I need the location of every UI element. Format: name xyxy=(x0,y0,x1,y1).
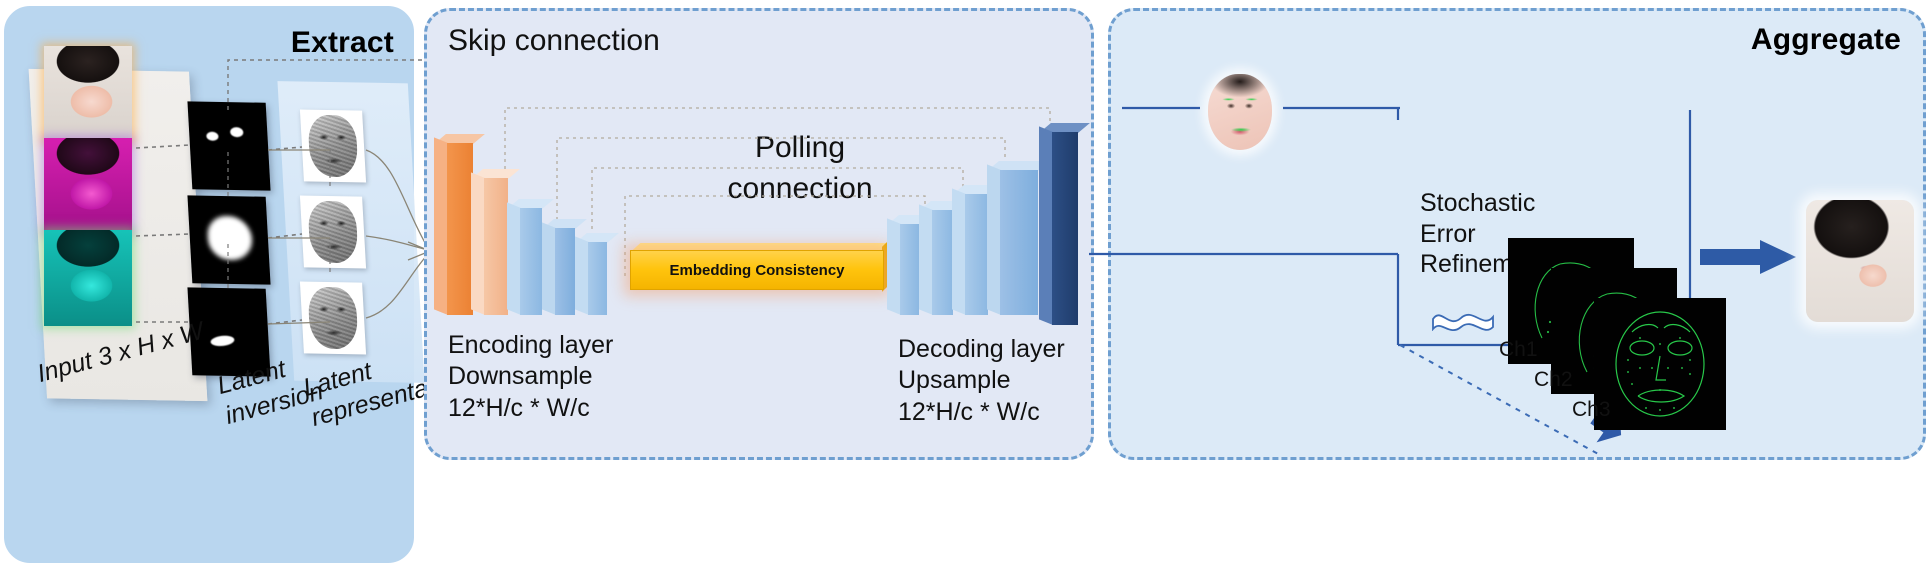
face-mesh-icon xyxy=(1594,298,1726,430)
block-side-face xyxy=(952,188,966,315)
encoder-block-5 xyxy=(588,242,607,315)
diagram-canvas: Extract xyxy=(0,0,1930,569)
block-front-face xyxy=(555,228,575,315)
decoder-block-5 xyxy=(1052,132,1078,325)
block-side-face xyxy=(887,218,901,315)
latent-face-2 xyxy=(300,196,366,269)
latent-face-texture xyxy=(307,201,359,264)
caption-decoder: Decoding layer Upsample 12*H/c * W/c xyxy=(898,334,1065,428)
decoder-block-1 xyxy=(900,224,919,315)
caption-decoder-line1: Decoding layer xyxy=(898,334,1065,365)
block-side-face xyxy=(919,204,933,315)
decoder-block-2 xyxy=(932,210,953,315)
decoder-block-4 xyxy=(1000,170,1038,315)
embedding-consistency-box[interactable]: Embedding Consistency xyxy=(630,250,884,290)
block-side-face xyxy=(1039,126,1053,325)
latent-face-3 xyxy=(300,282,366,355)
label-polling-line1: Polling xyxy=(690,128,910,169)
label-ser-line1: Stochastic xyxy=(1420,188,1548,219)
input-card-teal xyxy=(44,230,132,326)
mask-card-eyes xyxy=(187,101,270,190)
mouth-blob xyxy=(210,334,236,347)
block-front-face xyxy=(965,194,988,315)
caption-decoder-line2: Upsample xyxy=(898,365,1065,396)
label-polling-line2: connection xyxy=(690,169,910,210)
face-thumbnail xyxy=(44,230,132,326)
caption-encoder-line2: Downsample xyxy=(448,361,613,392)
block-front-face xyxy=(447,143,473,315)
face-blob xyxy=(207,216,254,261)
block-front-face xyxy=(484,178,508,315)
decoder-block-3 xyxy=(965,194,988,315)
output-restored-face xyxy=(1806,200,1914,322)
output-arrow-icon xyxy=(1700,240,1796,274)
encoder-block-3 xyxy=(520,208,542,315)
encoder-block-2 xyxy=(484,178,508,315)
channel-label-2: Ch2 xyxy=(1534,368,1573,392)
face-thumbnail xyxy=(44,46,132,142)
block-side-face xyxy=(471,172,485,315)
block-side-face xyxy=(542,222,556,315)
panel-aggregate-title: Aggregate xyxy=(1751,23,1901,57)
input-card-original xyxy=(44,46,132,142)
face-thumbnail xyxy=(44,138,132,234)
block-front-face xyxy=(1000,170,1038,315)
block-side-face xyxy=(507,202,521,315)
block-side-face xyxy=(434,137,448,315)
label-skip-connection: Skip connection xyxy=(448,24,660,58)
label-polling-connection: Polling connection xyxy=(690,128,910,209)
wave-icon xyxy=(1431,305,1495,331)
input-card-magenta xyxy=(44,138,132,234)
latent-face-1 xyxy=(300,110,366,183)
block-side-face xyxy=(575,236,589,315)
eye-blob-right xyxy=(230,127,244,137)
block-front-face xyxy=(520,208,542,315)
block-front-face xyxy=(588,242,607,315)
encoder-block-1 xyxy=(447,143,473,315)
block-front-face xyxy=(932,210,953,315)
caption-encoder: Encoding layer Downsample 12*H/c * W/c xyxy=(448,330,613,424)
block-side-face xyxy=(987,164,1001,315)
eye-blob-left xyxy=(206,132,219,141)
aggregate-preview-face xyxy=(1208,74,1272,150)
caption-encoder-line3: 12*H/c * W/c xyxy=(448,393,613,424)
panel-extract-title: Extract xyxy=(291,26,394,60)
latent-face-texture xyxy=(307,287,359,350)
latent-face-texture xyxy=(307,115,359,178)
caption-encoder-line1: Encoding layer xyxy=(448,330,613,361)
block-front-face xyxy=(900,224,919,315)
caption-decoder-line3: 12*H/c * W/c xyxy=(898,397,1065,428)
mask-card-face-blob xyxy=(187,195,270,284)
channel-label-1: Ch1 xyxy=(1499,338,1538,362)
block-front-face xyxy=(1052,132,1078,325)
channel-label-3: Ch3 xyxy=(1572,398,1611,422)
channel-card-3 xyxy=(1594,298,1726,430)
encoder-block-4 xyxy=(555,228,575,315)
